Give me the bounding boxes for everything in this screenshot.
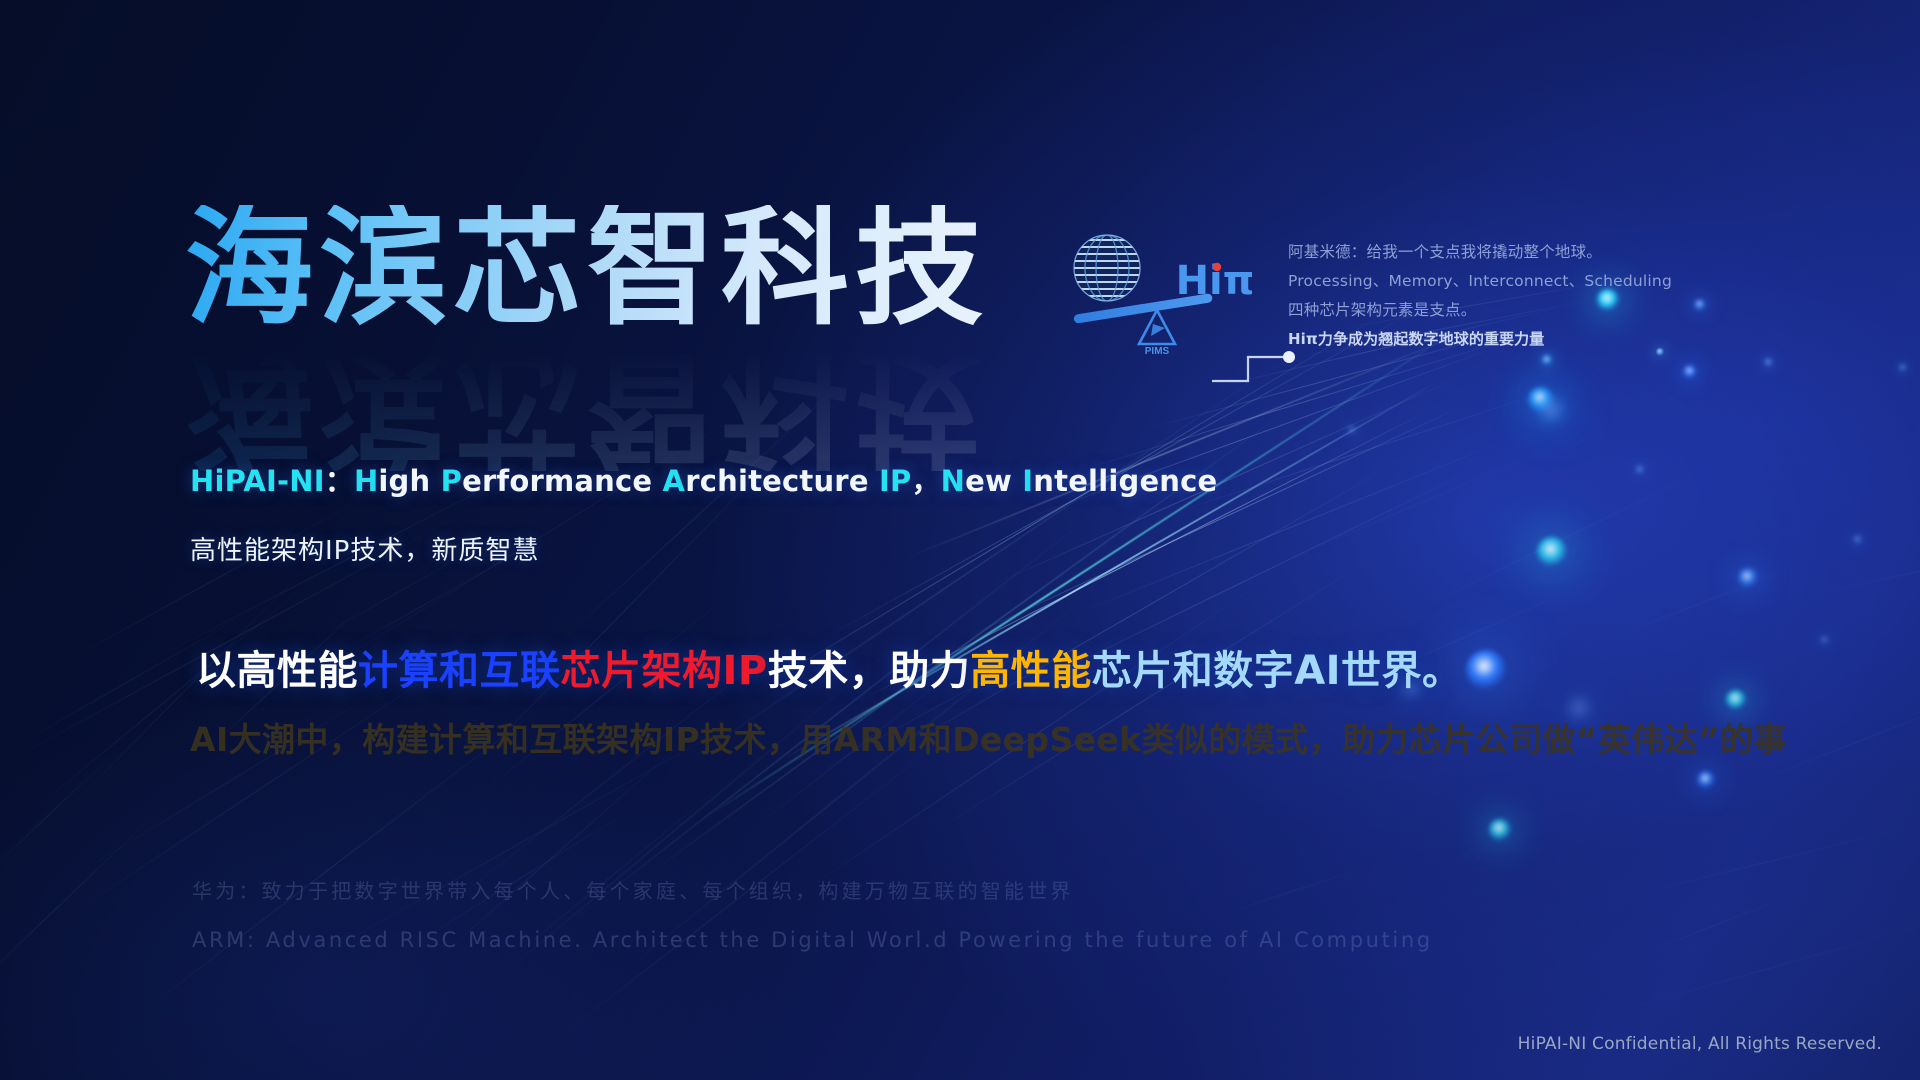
text-run-2: 芯片架构IP [561,648,768,694]
ghost-arm-line: ARM: Advanced RISC Machine. Architect th… [192,928,1433,952]
hipi-logo: PIMS Hiπ [1065,232,1255,357]
hero-tagline: 以高性能计算和互联芯片架构IP技术，助力高性能芯片和数字AI世界。 [196,638,1463,696]
text-run-7: rchitecture [685,464,879,498]
text-run-9: ， [911,464,940,498]
light-streak [1891,773,1920,867]
text-run-8: IP [879,464,911,498]
text-run-6: A [663,464,686,498]
text-run-13: ntelligence [1033,464,1217,498]
ghost-huawei-line: 华为：致力于把数字世界带入每个人、每个家庭、每个组织，构建万物互联的智能世界 [192,875,1074,904]
fulcrum-label: PIMS [1145,346,1170,357]
light-streak [0,750,117,875]
light-streak [1610,819,1920,901]
text-run-2: H [354,464,378,498]
text-run-4: P [441,464,462,498]
light-streak [1375,436,1774,631]
connector-endpoint-dot [1283,351,1295,363]
archimedes-quote-block: 阿基米德：给我一个支点我将撬动整个地球。 Processing、Memory、I… [1288,238,1688,354]
text-run-1: 计算和互联 [358,648,561,694]
text-run-11: ew [965,464,1022,498]
light-streak [1859,590,1920,736]
light-streak [1150,384,1569,521]
light-streak [1592,556,1823,646]
footer-copyright: HiPAI-NI Confidential, All Rights Reserv… [1518,1034,1882,1054]
subtitle-chinese: 高性能架构IP技术，新质智慧 [190,530,539,567]
quote-emphasis: Hiπ力争成为翘起数字地球的重要力量 [1288,325,1688,354]
fulcrum-triangle: PIMS [1139,310,1175,357]
text-run-0: HiPAI-NI [190,464,325,498]
logo-red-dot [1213,263,1221,271]
subtitle-english: HiPAI-NI：High Performance Architecture I… [190,458,1217,500]
text-run-4: 助力 [889,648,970,694]
connector-elbow [1210,348,1300,393]
text-run-6: 芯片和数字AI世界。 [1092,648,1463,694]
globe-icon [1069,235,1145,301]
light-streak [1799,537,1920,597]
quote-line-3: 四种芯片架构元素是支点。 [1288,296,1688,325]
page-title: 海滨芯智科技 [185,205,989,333]
light-streak [1586,904,1920,1021]
ghost-mission-line: AI大潮中，构建计算和互联架构IP技术，用ARM和DeepSeek类似的模式，助… [190,713,1787,761]
connector-svg [1210,348,1300,388]
light-streak [1270,436,1578,567]
logo-svg: PIMS Hiπ [1065,232,1255,357]
quote-line-1: 阿基米德：给我一个支点我将撬动整个地球。 [1288,238,1688,267]
light-streak [1642,893,1795,954]
text-run-5: erformance [462,464,662,498]
light-streak [1215,864,1375,917]
page-title-reflection: 海滨芯智科技 [185,343,989,471]
text-run-3: igh [378,464,440,498]
slide-canvas: 海滨芯智科技 海滨芯智科技 [0,0,1920,1080]
quote-line-2: Processing、Memory、Interconnect、Schedulin… [1288,267,1688,296]
text-run-12: I [1022,464,1033,498]
text-run-5: 高性能 [970,648,1092,694]
text-run-10: N [941,464,965,498]
text-run-0: 以高性能 [196,648,358,694]
text-run-1: ： [325,464,354,498]
text-run-3: 技术， [768,648,890,694]
title-block: 海滨芯智科技 海滨芯智科技 [185,205,989,333]
